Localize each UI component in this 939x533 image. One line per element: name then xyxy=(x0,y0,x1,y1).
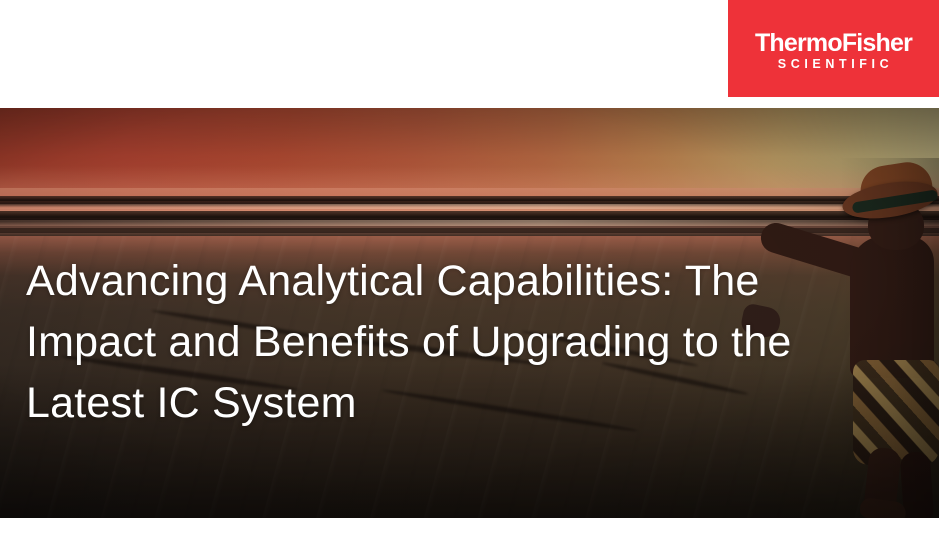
brand-name-thermo: Thermo xyxy=(755,29,842,57)
footer-band xyxy=(0,518,939,533)
thermo-fisher-logo: ThermoFisher SCIENTIFIC xyxy=(728,0,939,97)
page-title: Advancing Analytical Capabilities: The I… xyxy=(26,251,846,434)
title-slide: ThermoFisher SCIENTIFIC xyxy=(0,0,939,533)
header-band: ThermoFisher SCIENTIFIC xyxy=(0,0,939,108)
brand-tagline: SCIENTIFIC xyxy=(778,57,893,71)
brand-name-fisher: Fisher xyxy=(842,29,912,57)
brand-panel: ThermoFisher SCIENTIFIC xyxy=(728,0,939,97)
hero-image: Advancing Analytical Capabilities: The I… xyxy=(0,108,939,518)
brand-wordmark: ThermoFisher xyxy=(755,30,912,56)
